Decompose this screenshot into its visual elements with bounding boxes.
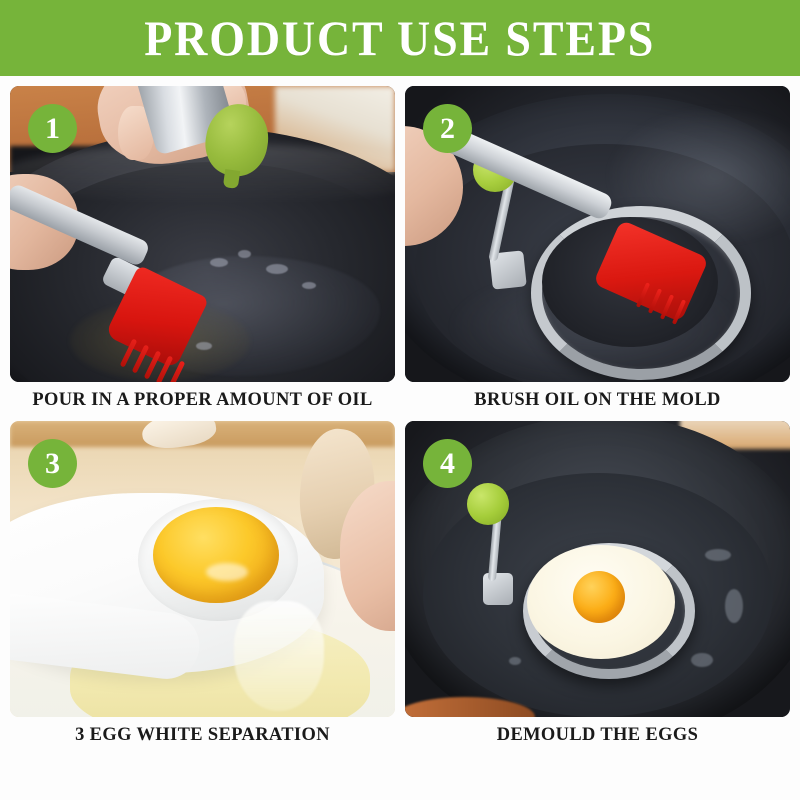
oil-droplet [210, 258, 228, 267]
step-badge-3: 3 [28, 439, 77, 488]
step-3-caption: 3 EGG WHITE SEPARATION [16, 719, 389, 751]
step-badge-1: 1 [28, 104, 77, 153]
oil-droplet [691, 653, 713, 667]
steps-grid: 1 POUR IN A PROPER AMOUNT OF OIL [10, 86, 790, 786]
step-1-photo: 1 [10, 86, 395, 382]
oil-droplet [725, 589, 743, 623]
step-4-photo: 4 [405, 421, 790, 717]
product-use-steps-infographic: PRODUCT USE STEPS [0, 0, 800, 800]
yolk-highlight [206, 563, 248, 581]
oil-droplet [196, 342, 212, 350]
header-banner: PRODUCT USE STEPS [0, 0, 800, 76]
step-number: 4 [440, 449, 455, 479]
oil-droplet [302, 282, 316, 289]
step-number: 2 [440, 114, 455, 144]
step-badge-4: 4 [423, 439, 472, 488]
egg-yolk [153, 507, 279, 603]
egg-white-drip [234, 601, 324, 711]
step-2-caption: BRUSH OIL ON THE MOLD [411, 384, 784, 416]
step-number: 1 [45, 114, 60, 144]
step-badge-2: 2 [423, 104, 472, 153]
green-handle-knob [467, 483, 509, 525]
egg-yolk [573, 571, 625, 623]
step-2-photo: 2 [405, 86, 790, 382]
step-card-3: 3 3 EGG WHITE SEPARATION [10, 421, 395, 751]
step-1-caption: POUR IN A PROPER AMOUNT OF OIL [16, 384, 389, 416]
oil-droplet [266, 264, 288, 274]
page-title: PRODUCT USE STEPS [144, 13, 655, 63]
step-card-4: 4 DEMOULD THE EGGS [405, 421, 790, 751]
step-card-1: 1 POUR IN A PROPER AMOUNT OF OIL [10, 86, 395, 416]
oil-droplet [238, 250, 251, 258]
step-card-2: 2 BRUSH OIL ON THE MOLD [405, 86, 790, 416]
step-4-caption: DEMOULD THE EGGS [411, 719, 784, 751]
oil-droplet [509, 657, 521, 665]
step-number: 3 [45, 449, 60, 479]
step-3-photo: 3 [10, 421, 395, 717]
oil-droplet [705, 549, 731, 561]
